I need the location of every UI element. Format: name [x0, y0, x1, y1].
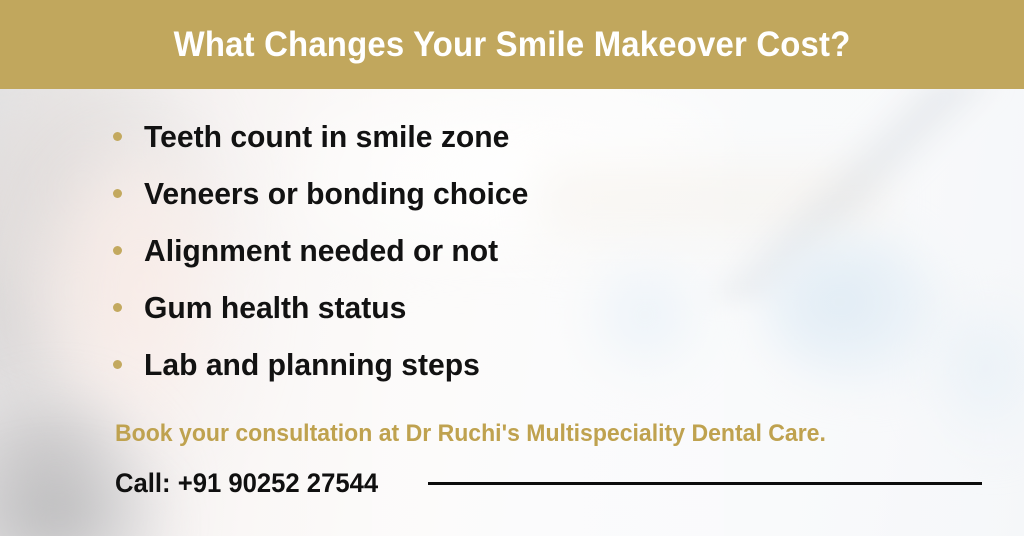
list-item-label: Gum health status [144, 292, 406, 323]
bullet-dot-icon [113, 303, 122, 312]
horizontal-rule [428, 482, 982, 485]
smile-makeover-cost-poster: What Changes Your Smile Makeover Cost? T… [0, 0, 1024, 536]
bullet-dot-icon [113, 360, 122, 369]
call-row: Call: +91 90252 27544 [115, 468, 1005, 499]
list-item: Veneers or bonding choice [113, 165, 753, 222]
list-item: Alignment needed or not [113, 222, 753, 279]
phone-number-label: Call: +91 90252 27544 [115, 468, 378, 499]
list-item-label: Lab and planning steps [144, 349, 480, 380]
bullet-dot-icon [113, 132, 122, 141]
list-item: Teeth count in smile zone [113, 108, 753, 165]
bullet-dot-icon [113, 189, 122, 198]
cost-factor-list: Teeth count in smile zone Veneers or bon… [113, 108, 753, 393]
list-item: Gum health status [113, 279, 753, 336]
bullet-dot-icon [113, 246, 122, 255]
list-item: Lab and planning steps [113, 336, 753, 393]
list-item-label: Alignment needed or not [144, 235, 498, 266]
list-item-label: Veneers or bonding choice [144, 178, 528, 209]
page-title: What Changes Your Smile Makeover Cost? [174, 25, 851, 65]
consultation-cta-text: Book your consultation at Dr Ruchi's Mul… [115, 420, 826, 448]
header-band: What Changes Your Smile Makeover Cost? [0, 0, 1024, 89]
list-item-label: Teeth count in smile zone [144, 121, 509, 152]
